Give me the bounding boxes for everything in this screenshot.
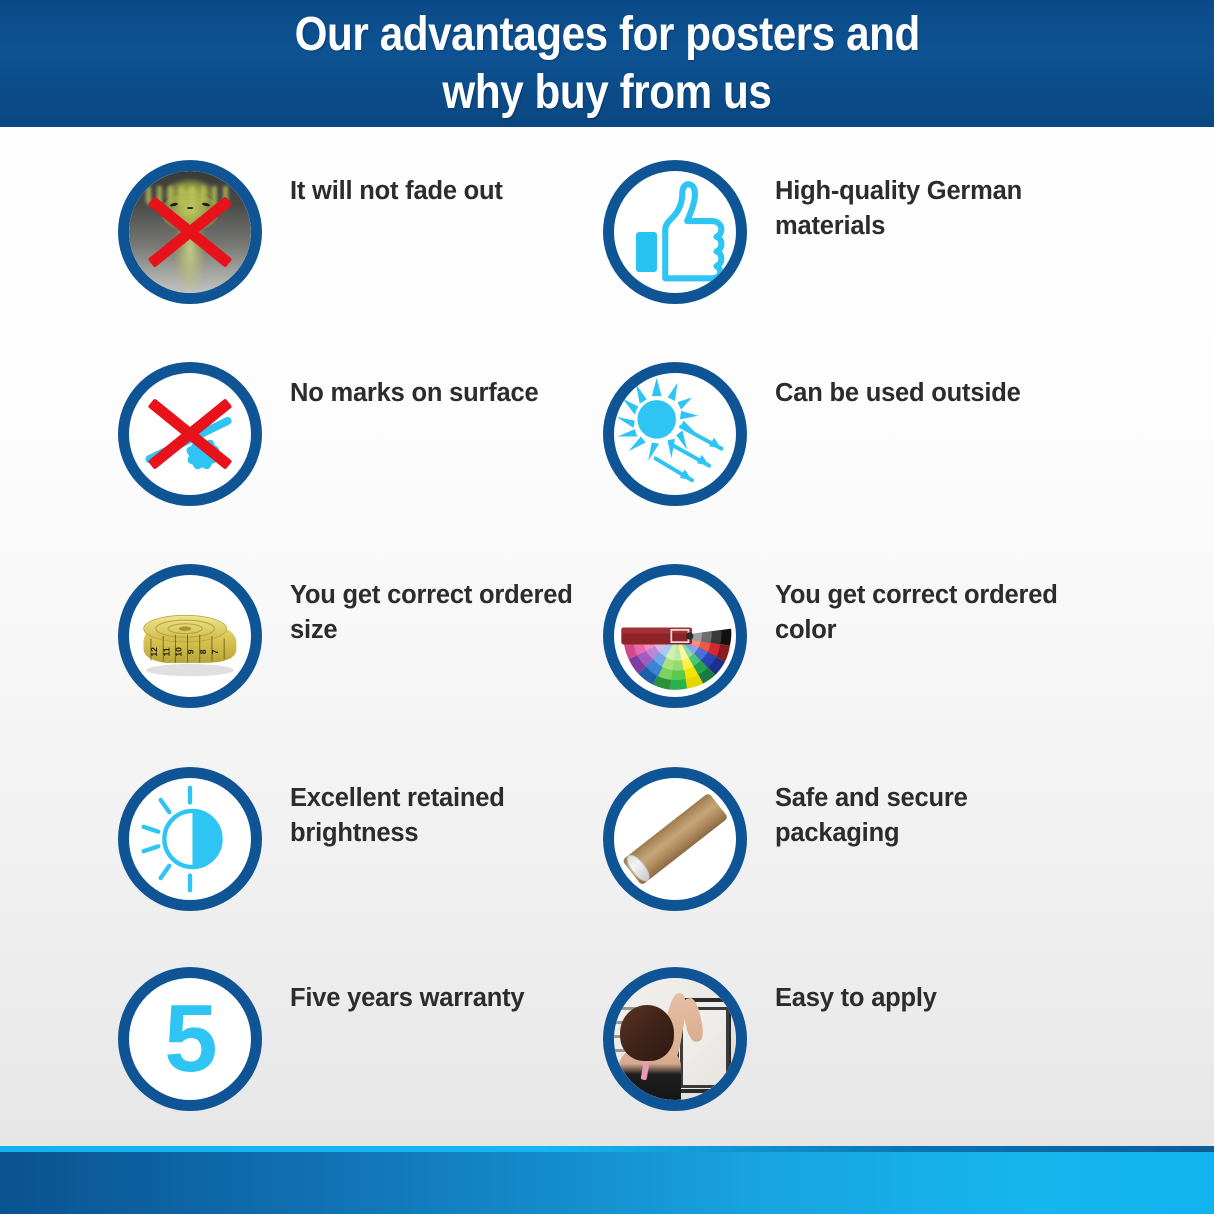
badge-materials — [603, 160, 747, 304]
header-title-line-1: Our advantages for posters and — [294, 6, 919, 64]
advantage-item-no-marks: No marks on surface — [118, 362, 608, 506]
badge-ring — [603, 362, 747, 506]
badge-easy-apply — [603, 967, 747, 1111]
advantage-label: Easy to apply — [775, 981, 937, 1016]
person-applying-icon — [614, 978, 736, 1100]
brightness-rays-icon — [144, 788, 190, 890]
advantage-label: Can be used outside — [775, 376, 1021, 411]
badge-size: 12 11 10 9 8 7 — [118, 564, 262, 708]
svg-text:8: 8 — [198, 649, 208, 654]
advantage-label: Five years warranty — [290, 981, 524, 1016]
advantage-item-materials: High-quality German materials — [603, 160, 1093, 304]
advantages-grid: It will not fade out High-quality German… — [0, 127, 1214, 1152]
badge-packaging — [603, 767, 747, 911]
advantage-label: Excellent retained brightness — [290, 781, 608, 851]
badge-ring — [118, 160, 262, 304]
number-five-icon: 5 — [129, 978, 251, 1100]
ghost-fade-icon — [129, 171, 251, 293]
thumbs-up-icon — [614, 171, 736, 293]
advantage-label: It will not fade out — [290, 174, 503, 209]
advantage-item-warranty: 5 Five years warranty — [118, 967, 608, 1111]
badge-brightness — [118, 767, 262, 911]
svg-text:12: 12 — [149, 647, 159, 657]
red-cross-icon — [129, 373, 251, 495]
measuring-tape-icon: 12 11 10 9 8 7 — [129, 575, 251, 697]
advantage-label: You get correct ordered size — [290, 578, 608, 648]
advantage-label: You get correct ordered color — [775, 578, 1093, 648]
badge-ring — [603, 564, 747, 708]
no-marks-icon — [129, 373, 251, 495]
badge-ring — [118, 362, 262, 506]
advantage-item-size: 12 11 10 9 8 7 You get correct ordered s… — [118, 564, 608, 708]
badge-ring: 5 — [118, 967, 262, 1111]
badge-ring — [603, 767, 747, 911]
advantage-item-brightness: Excellent retained brightness — [118, 767, 608, 911]
badge-fade — [118, 160, 262, 304]
color-fan-deck-icon — [614, 575, 736, 697]
badge-outside — [603, 362, 747, 506]
advantage-item-outside: Can be used outside — [603, 362, 1093, 506]
badge-ring — [118, 767, 262, 911]
red-cross-icon — [129, 171, 251, 293]
advantage-label: Safe and secure packaging — [775, 781, 1093, 851]
header-title-line-2: why buy from us — [442, 64, 771, 122]
mailing-tube-icon — [614, 778, 736, 900]
warranty-number: 5 — [129, 978, 251, 1100]
svg-text:9: 9 — [186, 649, 196, 654]
advantage-item-fade: It will not fade out — [118, 160, 608, 304]
infographic-page: Our advantages for posters and why buy f… — [0, 0, 1214, 1214]
svg-text:7: 7 — [210, 649, 220, 654]
sun-outdoor-icon — [614, 373, 736, 495]
advantage-label: High-quality German materials — [775, 174, 1093, 244]
sun-core-icon — [636, 399, 677, 440]
badge-ring — [603, 967, 747, 1111]
advantage-item-color: You get correct ordered color — [603, 564, 1093, 708]
badge-color — [603, 564, 747, 708]
badge-warranty: 5 — [118, 967, 262, 1111]
badge-ring: 12 11 10 9 8 7 — [118, 564, 262, 708]
badge-no-marks — [118, 362, 262, 506]
advantage-label: No marks on surface — [290, 376, 538, 411]
brightness-icon — [129, 778, 251, 900]
advantage-item-easy-apply: Easy to apply — [603, 967, 1093, 1111]
advantage-item-packaging: Safe and secure packaging — [603, 767, 1093, 911]
svg-text:11: 11 — [161, 647, 171, 656]
badge-ring — [603, 160, 747, 304]
svg-text:10: 10 — [173, 647, 183, 657]
page-footer — [0, 1152, 1214, 1214]
page-header: Our advantages for posters and why buy f… — [0, 0, 1214, 127]
